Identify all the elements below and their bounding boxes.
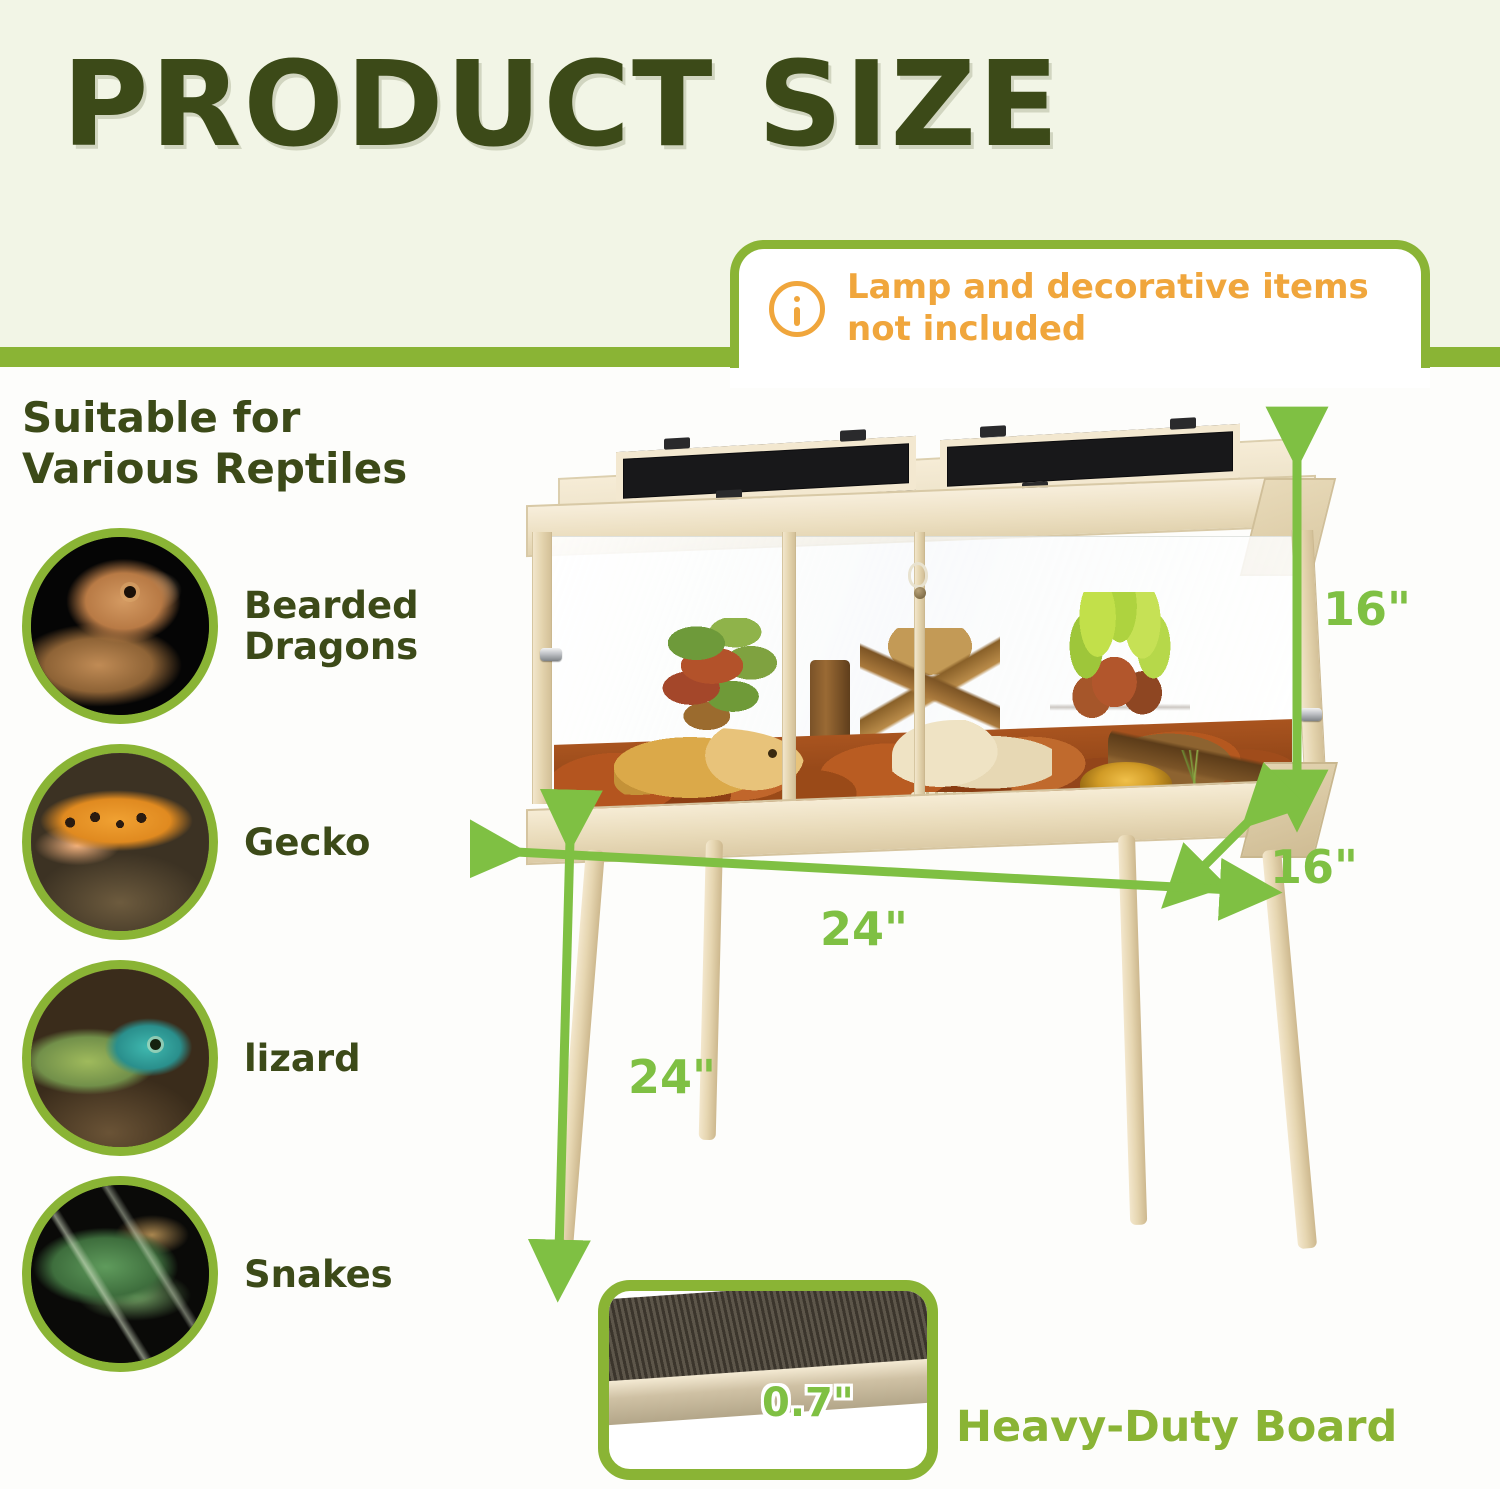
frame-post-left: [532, 532, 552, 804]
notice-text: Lamp and decorative items not included: [847, 267, 1407, 350]
door-knob-left[interactable]: [540, 648, 562, 661]
list-item: Snakes: [22, 1166, 472, 1382]
bearded-dragon-in-tank: [614, 728, 804, 804]
stand-leg-front-left: [554, 849, 605, 1249]
list-item: Bearded Dragons: [22, 518, 472, 734]
sidebar-heading-line-1: Suitable for: [22, 392, 472, 443]
suitable-reptiles-panel: Suitable for Various Reptiles Bearded Dr…: [22, 392, 472, 1382]
hinge-icon: [664, 437, 690, 449]
sidebar-heading: Suitable for Various Reptiles: [22, 392, 472, 494]
reptile-label-line-2: Dragons: [244, 626, 419, 667]
reptile-label: Bearded Dragons: [244, 585, 419, 668]
list-item: lizard: [22, 950, 472, 1166]
hinge-icon: [1170, 417, 1196, 429]
frame-post-mid-left: [782, 532, 796, 802]
lizard-photo: [22, 960, 218, 1156]
reptile-label-line-1: Snakes: [244, 1254, 393, 1295]
stand-height-dimension-label: 24": [628, 1050, 716, 1104]
reptile-label-line-1: Gecko: [244, 822, 370, 863]
page-title: PRODUCT SIZE: [62, 44, 1462, 164]
reptile-label: Snakes: [244, 1254, 393, 1295]
info-icon: [769, 281, 825, 337]
list-item: Gecko: [22, 734, 472, 950]
reptile-label: Gecko: [244, 822, 370, 863]
width-dimension-label: 24": [820, 902, 908, 956]
bearded-dragon-photo: [22, 528, 218, 724]
reptile-label: lizard: [244, 1038, 361, 1079]
stand-leg-front-right: [1262, 849, 1317, 1249]
reptile-label-line-1: Bearded: [244, 585, 419, 626]
board-thickness-label: 0.7": [762, 1380, 854, 1426]
door-latch-icon[interactable]: [908, 562, 928, 588]
depth-dimension-label: 16": [1270, 840, 1358, 894]
door-knob-right[interactable]: [1300, 708, 1322, 721]
heavy-duty-board-label: Heavy-Duty Board: [956, 1402, 1397, 1452]
hinge-icon: [980, 425, 1006, 437]
height-dimension-label: 16": [1323, 582, 1411, 636]
snake-photo: [22, 1176, 218, 1372]
terrarium-enclosure: [510, 432, 1330, 892]
stand-leg-back-right: [1118, 835, 1147, 1225]
hinge-icon: [840, 429, 866, 441]
gecko-photo: [22, 744, 218, 940]
product-stage: 16" 16" 24" 24" 0.7" Heavy-Duty Board: [470, 380, 1500, 1489]
sidebar-heading-line-2: Various Reptiles: [22, 443, 472, 494]
notice-card: Lamp and decorative items not included: [730, 240, 1430, 368]
reptile-label-line-1: lizard: [244, 1038, 361, 1079]
